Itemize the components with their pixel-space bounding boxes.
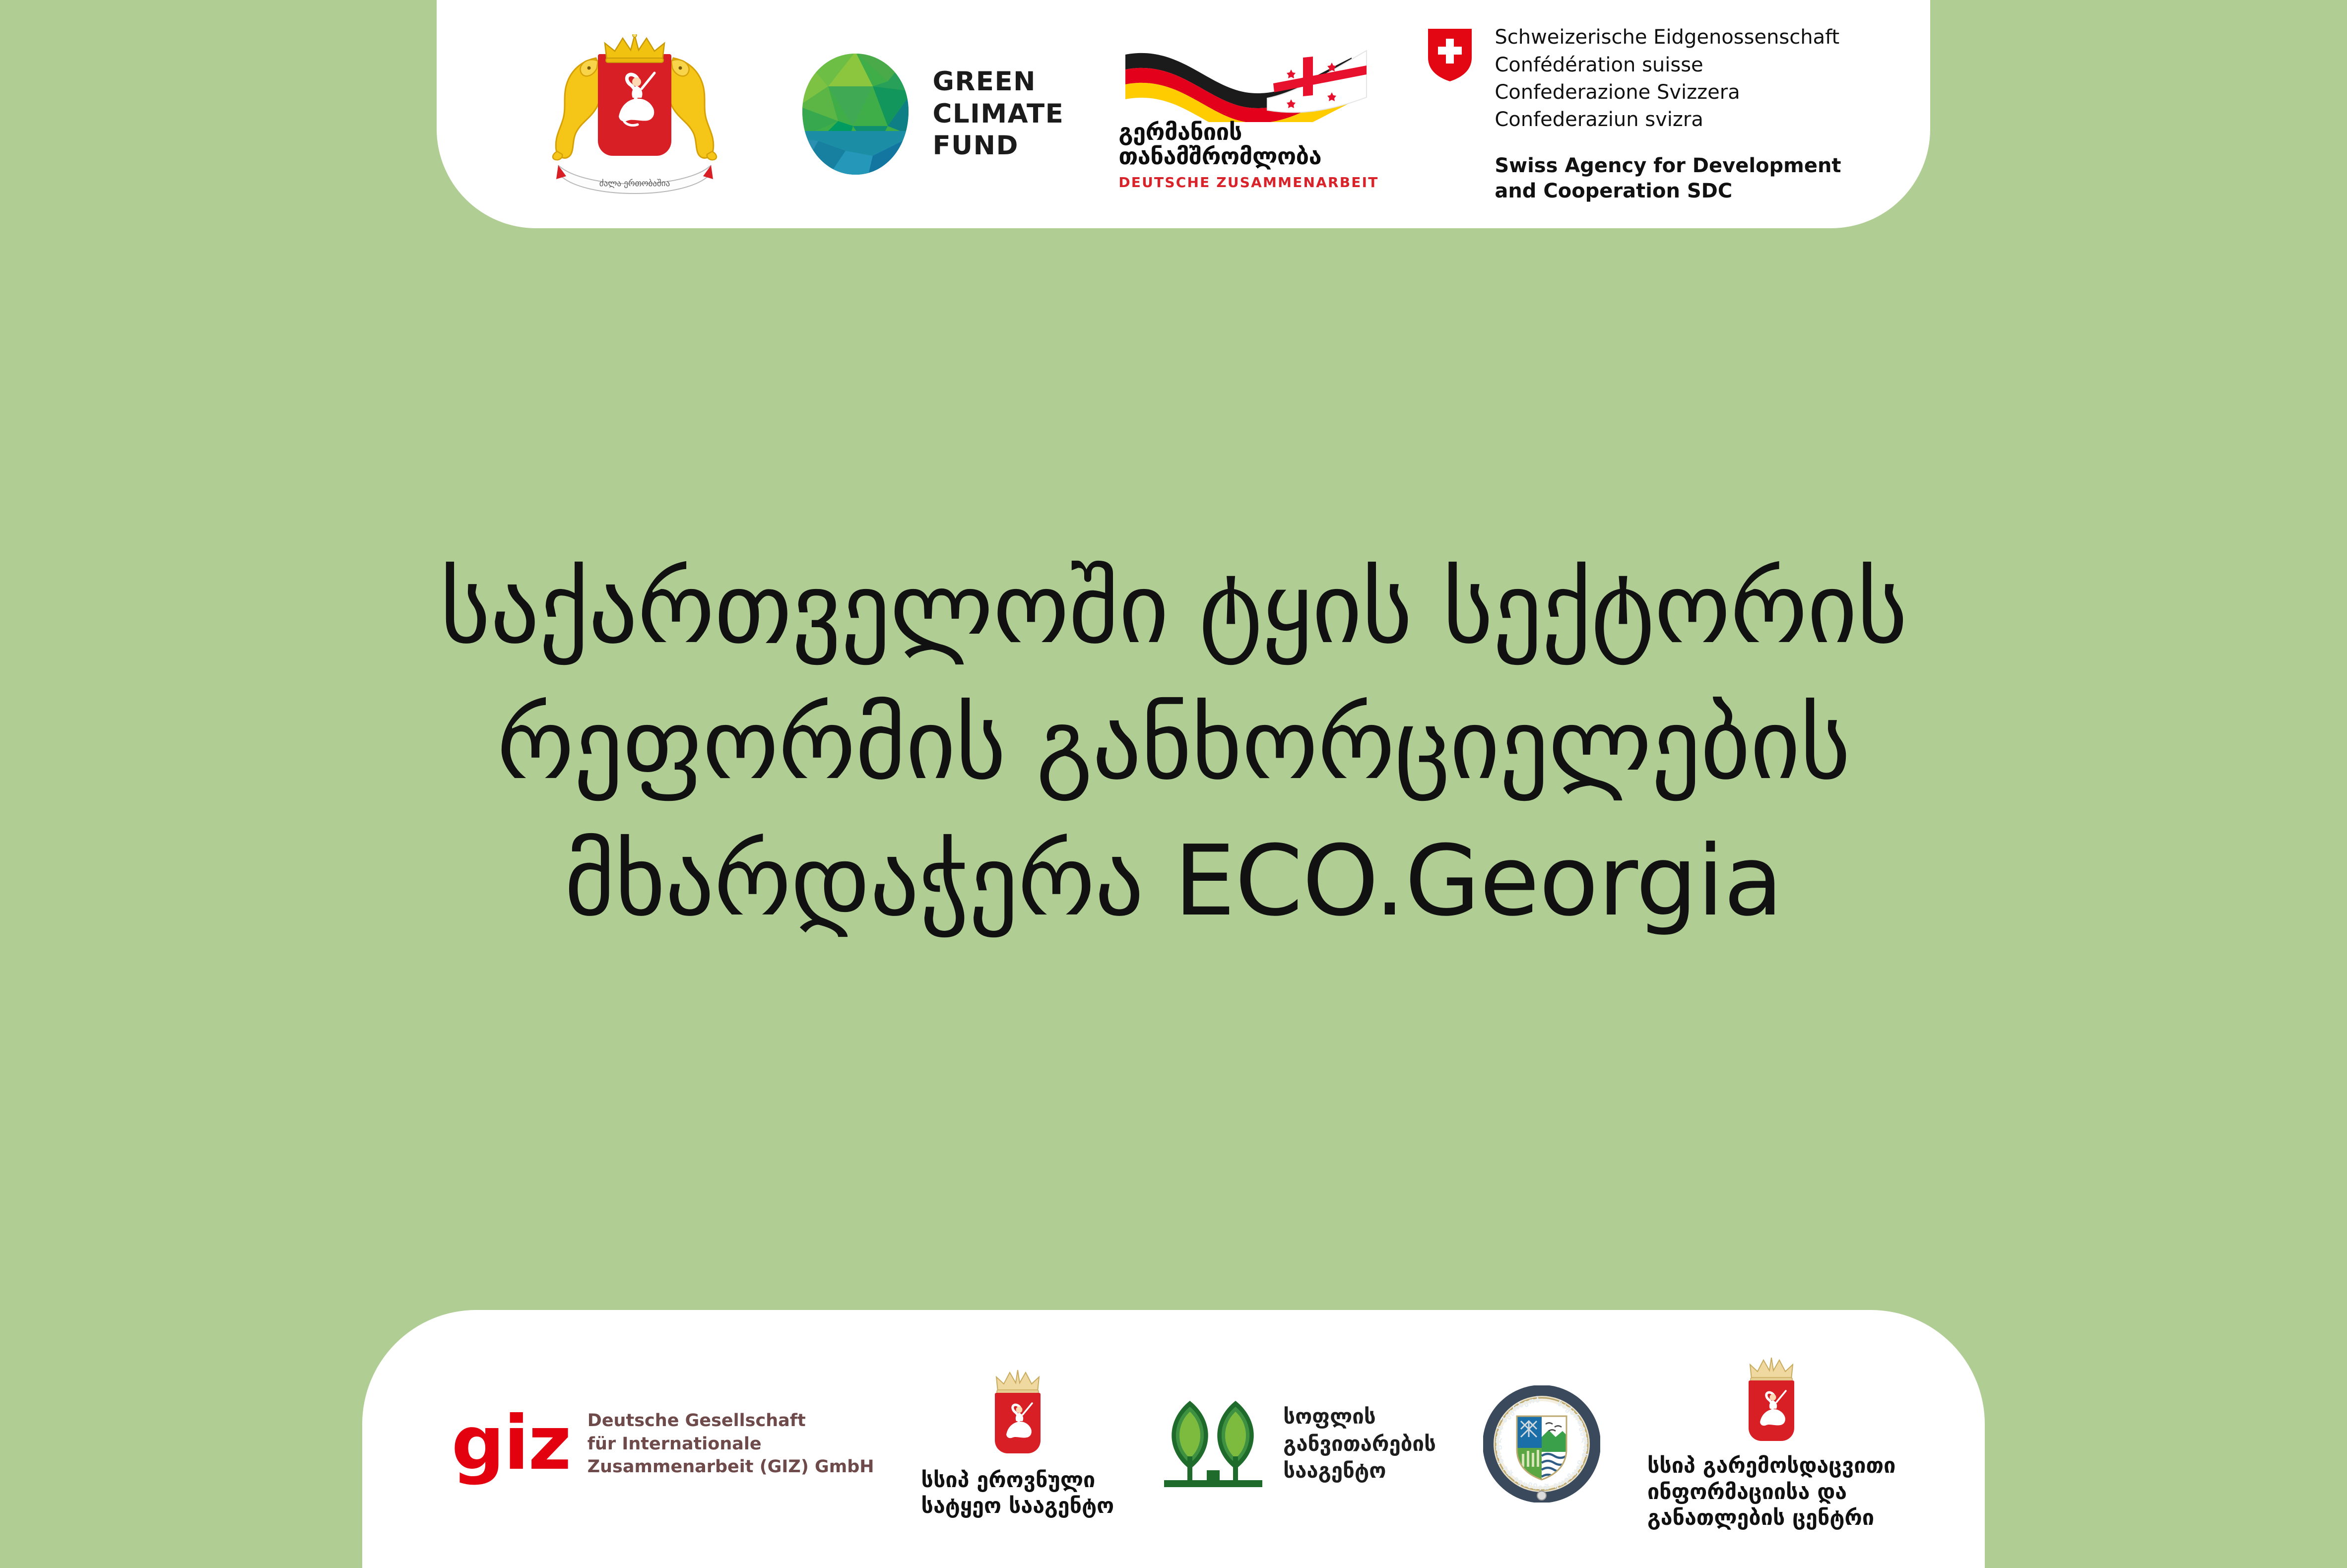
crown-icon: [1748, 1357, 1795, 1382]
swiss-shield-icon: [1426, 27, 1474, 82]
title-line-3: მხარდაჭერა ECO.Georgia: [99, 813, 2248, 949]
crown-icon: [602, 34, 667, 63]
nfa-line-1: სსიპ ეროვნული: [921, 1467, 1096, 1493]
rda-line-2: განვითარების: [1283, 1431, 1436, 1458]
gcf-line-1: GREEN: [932, 66, 1064, 98]
swiss-sdc-line-2: and Cooperation SDC: [1495, 179, 1841, 204]
presentation-slide: ძალა ერთობაშია: [0, 0, 2347, 1568]
nfa-label: სსიპ ეროვნული სატყეო სააგენტო: [921, 1467, 1114, 1519]
motto-text: ძალა ერთობაშია: [599, 179, 670, 189]
swiss-confederation-logo: Schweizerische Eidgenossenschaft Confédé…: [1426, 24, 1841, 204]
eiec-line-3: განათლების ცენტრი: [1647, 1505, 1874, 1531]
german-cooperation-ka-line-1: გერმანიის: [1118, 119, 1371, 146]
rda-line-1: სოფლის: [1283, 1403, 1436, 1431]
gcf-wordmark: GREEN CLIMATE FUND: [932, 66, 1064, 162]
ministry-environment-agriculture-logo: საქართველოს გარემოს დაცვისა და სოფლის მე…: [1483, 1385, 1600, 1503]
nfa-line-2: სატყეო სააგენტო: [921, 1493, 1114, 1519]
giz-fullname: Deutsche Gesellschaft für Internationale…: [587, 1409, 874, 1479]
german-cooperation-ka-line-2: თანამშრომლობა: [1118, 143, 1371, 171]
top-logo-banner: ძალა ერთობაშია: [437, 0, 1930, 228]
green-climate-fund-logo: GREEN CLIMATE FUND: [798, 52, 1064, 177]
georgia-mini-emblem-eiec-icon: [1742, 1357, 1801, 1441]
saint-george-rider-icon: [1755, 1388, 1788, 1431]
gcf-line-3: FUND: [932, 130, 1064, 162]
national-forestry-agency-logo: სსიპ ეროვნული სატყეო სააგენტო: [921, 1369, 1114, 1519]
bottom-logo-banner: giz Deutsche Gesellschaft für Internatio…: [362, 1310, 1985, 1568]
swiss-sdc-line-1: Swiss Agency for Development: [1495, 153, 1841, 179]
title-line-2: რეფორმის განხორციელების: [99, 677, 2248, 813]
rda-label: სოფლის განვითარების სააგენტო: [1283, 1403, 1436, 1485]
ministry-round-emblem-icon: საქართველოს გარემოს დაცვისა და სოფლის მე…: [1483, 1385, 1600, 1503]
rda-line-3: სააგენტო: [1283, 1457, 1436, 1485]
giz-logo: giz Deutsche Gesellschaft für Internatio…: [452, 1409, 874, 1479]
saint-george-rider-icon: [1001, 1401, 1034, 1443]
rural-development-agency-logo: სოფლის განვითარების სააგენტო: [1161, 1397, 1436, 1491]
two-trees-icon: [1161, 1397, 1265, 1491]
motto-ribbon: ძალა ერთობაშია: [555, 157, 714, 194]
title-line-1: საქართველოში ტყის სექტორის: [99, 541, 2248, 677]
swiss-lang-fr: Confédération suisse: [1495, 52, 1841, 79]
swiss-sdc-block: Swiss Agency for Development and Coopera…: [1495, 153, 1841, 204]
eiec-line-2: ინფორმაციისა და: [1647, 1479, 1847, 1505]
slide-title: საქართველოში ტყის სექტორის რეფორმის განხ…: [0, 541, 2347, 949]
georgia-mini-emblem-nfa-icon: [988, 1369, 1047, 1453]
giz-wordmark: giz: [452, 1413, 571, 1474]
swiss-lang-de: Schweizerische Eidgenossenschaft: [1495, 24, 1841, 51]
saint-george-rider-icon: [611, 69, 658, 129]
german-cooperation-de-line: DEUTSCHE ZUSAMMENARBEIT: [1118, 174, 1371, 191]
gcf-globe-icon: [798, 52, 913, 177]
coat-of-arms-icon: ძალა ერთობაშია: [525, 32, 744, 196]
giz-line-3: Zusammenarbeit (GIZ) GmbH: [587, 1455, 874, 1479]
swiss-text-block: Schweizerische Eidgenossenschaft Confédé…: [1495, 24, 1841, 204]
crown-icon: [994, 1369, 1042, 1395]
swiss-lang-it: Confederazione Svizzera: [1495, 79, 1841, 106]
swiss-lang-rm: Confederaziun svizra: [1495, 106, 1841, 133]
german-cooperation-logo: გერმანიის თანამშრომლობა DEUTSCHE ZUSAMME…: [1118, 38, 1371, 191]
giz-line-1: Deutsche Gesellschaft: [587, 1409, 874, 1433]
giz-line-2: für Internationale: [587, 1433, 874, 1456]
georgia-coat-of-arms-logo: ძალა ერთობაშია: [525, 32, 744, 196]
environmental-information-education-center-logo: სსიპ გარემოსდაცვითი ინფორმაციისა და განა…: [1647, 1357, 1895, 1531]
german-georgian-flag-ribbon-icon: [1118, 38, 1371, 122]
eiec-line-1: სსიპ გარემოსდაცვითი: [1647, 1453, 1895, 1479]
gcf-line-2: CLIMATE: [932, 98, 1064, 131]
eiec-label: სსიპ გარემოსდაცვითი ინფორმაციისა და განა…: [1647, 1453, 1895, 1531]
